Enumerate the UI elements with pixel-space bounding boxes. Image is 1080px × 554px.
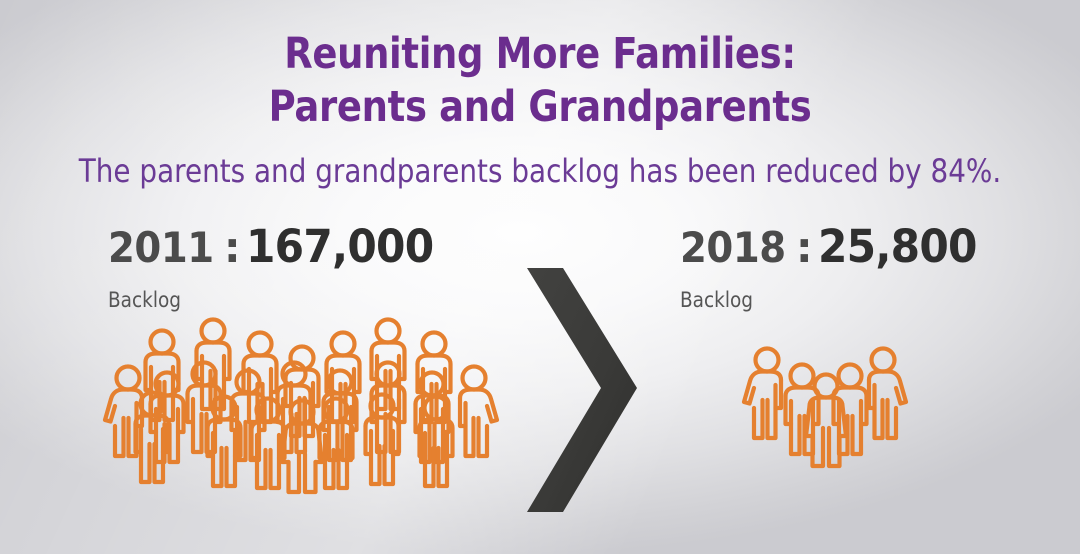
stat-headline-2011: 2011:167,000: [108, 222, 445, 282]
stat-headline-2018: 2018:25,800: [680, 222, 987, 282]
chevron-right-svg: [505, 258, 675, 528]
stat-label-2018: Backlog: [680, 288, 786, 312]
stat-block-2011: 2011:167,000 Backlog: [108, 222, 445, 312]
page-title-line-1: Reuniting More Families:: [76, 28, 1005, 81]
page-title-line-2: Parents and Grandparents: [76, 81, 1005, 134]
chevron-right-icon: [505, 258, 675, 533]
stat-separator-2011: :: [223, 223, 246, 272]
stat-label-2011: Backlog: [108, 288, 214, 312]
stat-year-2011: 2011: [108, 223, 214, 273]
people-group-svg: [730, 338, 920, 478]
people-group-icon-2018: [730, 338, 920, 483]
people-crowd-icon-2011: [96, 312, 516, 527]
people-crowd-svg: [96, 312, 516, 522]
stat-year-2018: 2018: [680, 223, 786, 273]
stat-separator-2018: :: [795, 223, 818, 272]
stat-value-2018: 25,800: [818, 222, 977, 272]
person-outline-1: [744, 349, 781, 439]
person-outline-5: [869, 349, 906, 439]
stat-block-2018: 2018:25,800 Backlog: [680, 222, 987, 312]
stat-value-2011: 167,000: [246, 222, 433, 272]
header-title-block: Reuniting More Families: Parents and Gra…: [0, 28, 1080, 134]
infographic-canvas: Reuniting More Families: Parents and Gra…: [0, 0, 1080, 554]
page-subtitle: The parents and grandparents backlog has…: [70, 152, 1010, 190]
